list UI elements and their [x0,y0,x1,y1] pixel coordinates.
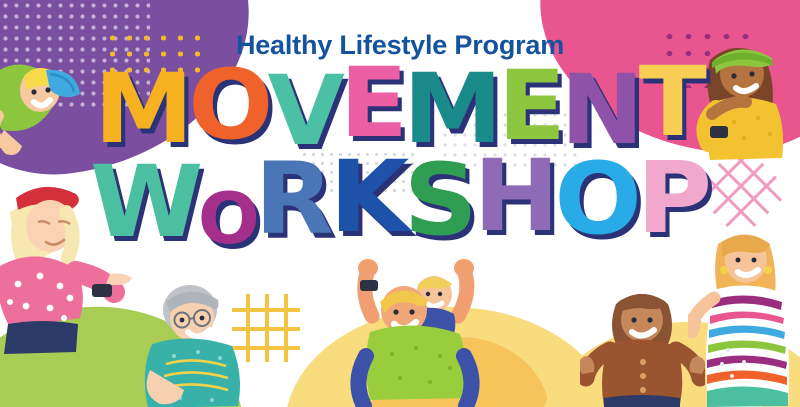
speckle-texture-upper [440,110,580,170]
illustration-elder-woman [128,278,248,407]
title-letter: E [340,62,406,145]
speckle-texture-center [300,150,420,196]
illustration-striped-woman [688,228,800,407]
title-letter: V [268,70,343,153]
illustration-cap-guy [0,46,104,161]
page-subtitle: Healthy Lifestyle Program [0,30,800,61]
title-letter: O [198,189,258,249]
grid-lines-pink [697,147,785,235]
illustration-dad-and-kid [330,258,500,407]
illustration-cardigan-woman [580,282,705,407]
illustration-beret-woman [0,168,142,358]
promotional-banner: Healthy Lifestyle Program MOVEMENT WORKS… [0,0,800,407]
